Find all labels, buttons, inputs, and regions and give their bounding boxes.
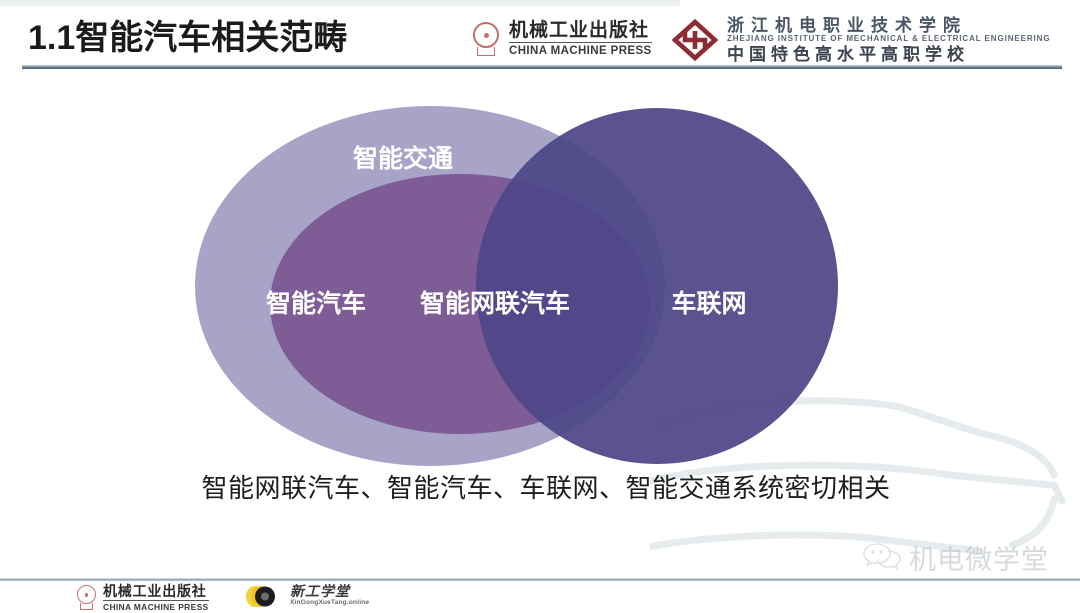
venn-diagram: 智能交通 智能汽车 智能网联汽车 车联网	[168, 104, 868, 469]
footer-publisher-logo-text: 机械工业出版社 CHINA MACHINE PRESS	[103, 584, 209, 612]
footer-school-en-name: XinGongXueTang.online	[290, 600, 369, 607]
school-cn-name: 浙江机电职业技术学院	[727, 17, 1050, 34]
publisher-en-name: CHINA MACHINE PRESS	[509, 45, 652, 57]
page-title: 1.1智能汽车相关范畴	[28, 17, 347, 59]
school-sub-name: 中国特色高水平高职学校	[727, 46, 1050, 63]
venn-label-internet-of-vehicles: 车联网	[671, 289, 746, 318]
venn-label-intelligent-transport: 智能交通	[353, 144, 453, 173]
xin-gong-xue-tang-icon	[244, 585, 284, 608]
header-divider	[22, 65, 1062, 69]
footer-school-logo-text: 新工学堂 XinGongXueTang.online	[290, 586, 369, 608]
venn-label-intelligent-vehicle: 智能汽车	[266, 289, 366, 318]
gear-press-icon	[76, 585, 98, 610]
wechat-icon	[862, 540, 902, 575]
footer-publisher-logo: 机械工业出版社 CHINA MACHINE PRESS	[76, 584, 209, 612]
school-logo: 浙江机电职业技术学院 ZHEJIANG INSTITUTE OF MECHANI…	[672, 17, 1050, 64]
school-logo-text: 浙江机电职业技术学院 ZHEJIANG INSTITUTE OF MECHANI…	[727, 17, 1050, 64]
wechat-watermark: 机电微学堂	[862, 538, 1049, 577]
footer-school-logo: 新工学堂 XinGongXueTang.online	[244, 585, 369, 608]
slide-root: 1.1智能汽车相关范畴 机械工业出版社 CHINA MACHINE PRESS	[0, 0, 1080, 613]
wechat-watermark-text: 机电微学堂	[909, 538, 1049, 577]
footer-publisher-en-name: CHINA MACHINE PRESS	[103, 603, 209, 612]
footer-publisher-cn-name: 机械工业出版社	[103, 584, 209, 601]
venn-set-internet-of-vehicles[interactable]	[476, 108, 838, 464]
venn-label-connected-intelligent-vehicle: 智能网联汽车	[420, 289, 570, 318]
slide-caption: 智能网联汽车、智能汽车、车联网、智能交通系统密切相关	[0, 468, 1080, 505]
knot-emblem-icon	[672, 19, 718, 61]
publisher-logo-text: 机械工业出版社 CHINA MACHINE PRESS	[509, 21, 652, 57]
gear-press-icon	[472, 22, 502, 56]
slide-header: 1.1智能汽车相关范畴 机械工业出版社 CHINA MACHINE PRESS	[0, 7, 1080, 67]
slide-footer: 机械工业出版社 CHINA MACHINE PRESS 新工学堂 XinGong…	[0, 581, 1080, 613]
top-band	[0, 0, 680, 7]
publisher-logo: 机械工业出版社 CHINA MACHINE PRESS	[472, 21, 652, 57]
footer-school-cn-name: 新工学堂	[290, 586, 369, 601]
school-en-name: ZHEJIANG INSTITUTE OF MECHANICAL & ELECT…	[727, 35, 1050, 43]
publisher-cn-name: 机械工业出版社	[509, 21, 652, 43]
